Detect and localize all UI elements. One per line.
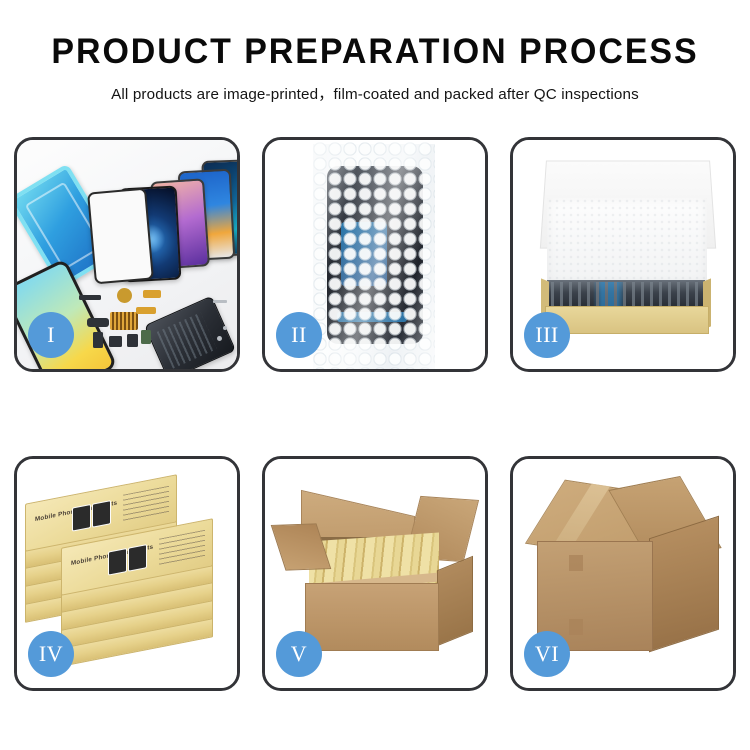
process-step-grid: I II III <box>14 137 736 691</box>
flex-cable-part-2 <box>136 307 156 314</box>
step-badge-3: III <box>524 312 570 358</box>
carton-side-panel <box>649 516 719 653</box>
carton-tab-lower <box>569 619 583 635</box>
phone-back-housing <box>144 296 236 369</box>
product-preparation-infographic: PRODUCT PREPARATION PROCESS All products… <box>0 0 750 750</box>
page-subtitle: All products are image-printed，film-coat… <box>0 82 750 104</box>
step-badge-2: II <box>276 312 322 358</box>
box-spec-lines <box>123 486 169 523</box>
step-badge-5: V <box>276 631 322 677</box>
header: PRODUCT PREPARATION PROCESS All products… <box>0 0 750 104</box>
box-spec-lines <box>159 530 205 567</box>
speaker-mesh-part <box>117 288 132 303</box>
screw-part-2 <box>223 326 227 330</box>
process-step-panel-3: III <box>510 137 736 372</box>
step-badge-6: VI <box>524 631 570 677</box>
process-step-panel-5: V <box>262 456 488 691</box>
carton-tab-upper <box>569 555 583 571</box>
battery-part <box>141 330 151 344</box>
process-step-panel-6: VI <box>510 456 736 691</box>
process-step-panel-4: Mobile Phone Spare Parts Mobile Phone Sp… <box>14 456 240 691</box>
box-phone-graphic <box>92 500 111 528</box>
box-phone-graphic <box>108 548 127 576</box>
step-badge-4: IV <box>28 631 74 677</box>
wrapped-parts-row <box>547 280 705 308</box>
carton-side-panel <box>437 556 473 647</box>
button-part <box>127 334 138 347</box>
flex-cable-part-1 <box>79 295 101 300</box>
process-step-panel-2: II <box>262 137 488 372</box>
foam-liner <box>547 198 707 284</box>
page-title: PRODUCT PREPARATION PROCESS <box>11 34 739 69</box>
process-step-panel-1: I <box>14 137 240 372</box>
step-badge-1: I <box>28 312 74 358</box>
screw-part-1 <box>217 336 222 341</box>
carton-front-panel <box>305 583 439 651</box>
sim-tray-part <box>93 332 103 348</box>
tweezers-part <box>213 300 227 303</box>
box-phone-graphic <box>72 504 91 532</box>
mesh-grille-part <box>110 312 138 330</box>
vibrator-part <box>109 336 122 347</box>
box-phone-graphic <box>128 544 147 572</box>
connector-part <box>87 318 109 327</box>
phone-glass-white-frame <box>87 188 154 285</box>
camera-flex-part <box>143 290 161 298</box>
film-sheen-highlight <box>313 142 435 369</box>
